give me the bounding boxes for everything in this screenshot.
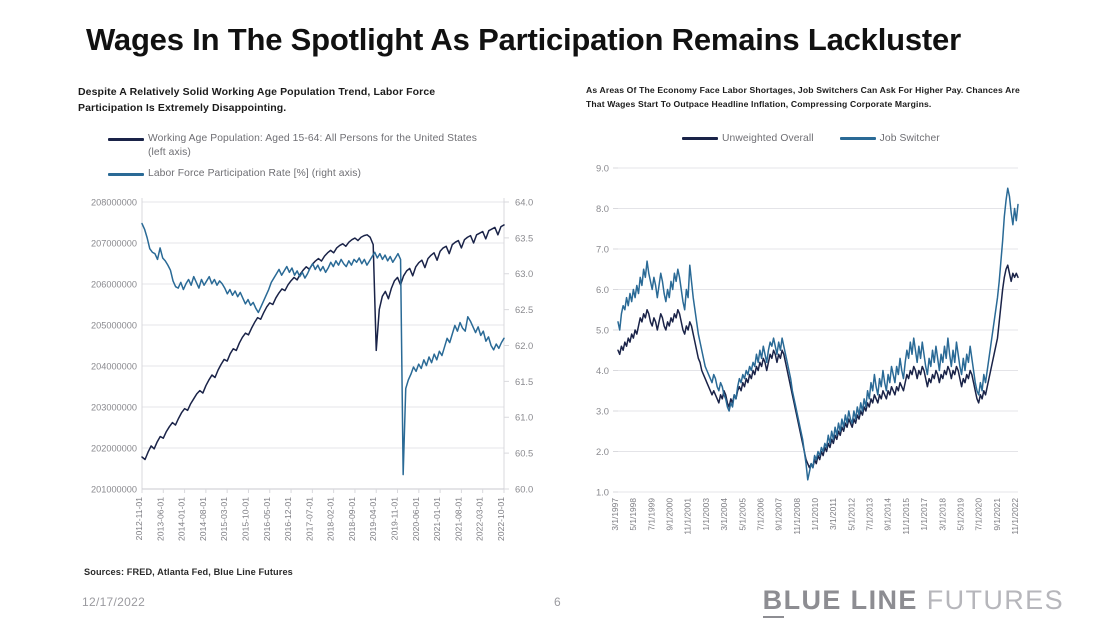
x-axis-tick-label: 2016-05-01 [262, 497, 272, 541]
left-subtitle-line1: Despite A Relatively Solid Working Age P… [78, 84, 558, 100]
page-number: 6 [554, 595, 561, 609]
data-line-job-switcher [618, 188, 1018, 480]
x-axis-tick-label: 7/1/2020 [974, 498, 984, 531]
left-axis-tick-label: 205000000 [91, 320, 137, 330]
x-axis-tick-label: 5/1/1998 [628, 498, 638, 531]
left-axis-tick-label: 202000000 [91, 443, 137, 453]
left-chart-subtitle: Despite A Relatively Solid Working Age P… [78, 84, 558, 117]
logo-letter-b: B [763, 585, 784, 618]
x-axis-tick-label: 2012-11-01 [134, 497, 144, 541]
right-axis-tick-label: 61.0 [515, 412, 533, 423]
y-axis-tick-label: 3.0 [596, 405, 609, 416]
left-chart-panel: Despite A Relatively Solid Working Age P… [78, 84, 558, 584]
legend-item-unweighted-overall[interactable]: Unweighted Overall [682, 132, 814, 146]
right-axis-tick-label: 64.0 [515, 196, 533, 207]
y-axis-tick-label: 7.0 [596, 243, 609, 254]
legend-label-working-age-population: Working Age Population: Aged 15-64: All … [148, 132, 477, 160]
x-axis-tick-label: 1/1/2017 [919, 498, 929, 531]
right-subtitle-line1: As Areas Of The Economy Face Labor Short… [586, 84, 1056, 98]
legend-item-working-age-population[interactable]: Working Age Population: Aged 15-64: All … [108, 132, 477, 160]
x-axis-tick-label: 2020-06-01 [411, 497, 421, 541]
y-axis-tick-label: 5.0 [596, 324, 609, 335]
legend-swatch-navy [108, 138, 144, 141]
left-axis-tick-label: 201000000 [91, 484, 137, 494]
legend-label-job-switcher: Job Switcher [880, 132, 940, 146]
left-chart-svg: 2010000002020000002030000002040000002050… [142, 194, 504, 496]
y-axis-tick-label: 4.0 [596, 365, 609, 376]
x-axis-tick-label: 2017-07-01 [304, 497, 314, 541]
right-chart-plot: 1.02.03.04.05.06.07.08.09.03/1/19975/1/1… [618, 162, 1018, 502]
right-axis-tick-label: 60.0 [515, 483, 533, 494]
x-axis-tick-label: 11/1/2022 [1010, 498, 1020, 535]
x-axis-tick-label: 3/1/2011 [828, 498, 838, 530]
data-line-labor-force-participation [142, 224, 504, 475]
slide: Wages In The Spotlight As Participation … [0, 0, 1120, 630]
x-axis-tick-label: 2018-02-01 [326, 497, 336, 541]
legend-swatch-blue [108, 173, 144, 176]
right-chart-svg: 1.02.03.04.05.06.07.08.09.03/1/19975/1/1… [618, 162, 1018, 502]
legend-swatch-blue [840, 137, 876, 140]
right-axis-tick-label: 61.5 [515, 376, 533, 387]
sources-note: Sources: FRED, Atlanta Fed, Blue Line Fu… [84, 567, 293, 577]
y-axis-tick-label: 9.0 [596, 162, 609, 173]
left-axis-tick-label: 204000000 [91, 361, 137, 371]
x-axis-tick-label: 2015-10-01 [241, 497, 251, 541]
x-axis-tick-label: 2016-12-01 [283, 497, 293, 541]
x-axis-tick-label: 2015-03-01 [219, 497, 229, 541]
left-chart-legend: Working Age Population: Aged 15-64: All … [108, 132, 477, 188]
x-axis-tick-label: 2019-11-01 [390, 497, 400, 541]
legend-item-labor-force-participation[interactable]: Labor Force Participation Rate [%] (righ… [108, 167, 477, 181]
x-axis-tick-label: 7/1/1999 [646, 498, 656, 531]
x-axis-tick-label: 11/1/2001 [683, 498, 693, 535]
x-axis-tick-label: 9/1/2000 [665, 498, 675, 531]
left-subtitle-line2: Participation Is Extremely Disappointing… [78, 100, 558, 116]
x-axis-tick-label: 2014-08-01 [198, 497, 208, 541]
right-axis-tick-label: 63.5 [515, 232, 533, 243]
right-axis-tick-label: 62.0 [515, 340, 533, 351]
left-axis-tick-label: 206000000 [91, 279, 137, 289]
logo-futures: FUTURES [927, 585, 1064, 615]
x-axis-tick-label: 2022-03-01 [475, 497, 485, 541]
x-axis-tick-label: 5/1/2012 [846, 498, 856, 531]
y-axis-tick-label: 2.0 [596, 446, 609, 457]
x-axis-tick-label: 2021-08-01 [453, 497, 463, 541]
blue-line-futures-logo: BLUE LINE FUTURES [763, 585, 1064, 616]
right-chart-legend: Unweighted Overall Job Switcher [682, 132, 940, 146]
right-axis-tick-label: 63.0 [515, 268, 533, 279]
logo-blue-line: BLUE LINE [763, 585, 918, 618]
left-axis-tick-label: 207000000 [91, 238, 137, 248]
left-axis-tick-label: 203000000 [91, 402, 137, 412]
legend-label-labor-force-participation: Labor Force Participation Rate [%] (righ… [148, 167, 361, 181]
x-axis-tick-label: 9/1/2021 [992, 498, 1002, 531]
y-axis-tick-label: 8.0 [596, 203, 609, 214]
right-axis-tick-label: 62.5 [515, 304, 533, 315]
data-line-unweighted-overall [618, 265, 1018, 468]
left-chart-plot: 2010000002020000002030000002040000002050… [142, 194, 504, 496]
right-chart-subtitle: As Areas Of The Economy Face Labor Short… [586, 84, 1056, 112]
right-subtitle-line2: That Wages Start To Outpace Headline Inf… [586, 98, 1056, 112]
legend-swatch-navy [682, 137, 718, 140]
x-axis-tick-label: 2022-10-01 [496, 497, 506, 541]
left-axis-tick-label: 208000000 [91, 197, 137, 207]
date-stamp: 12/17/2022 [82, 595, 145, 609]
x-axis-tick-label: 9/1/2007 [774, 498, 784, 531]
x-axis-tick-label: 3/1/2018 [937, 498, 947, 531]
right-chart-panel: As Areas Of The Economy Face Labor Short… [586, 84, 1056, 584]
x-axis-tick-label: 2019-04-01 [368, 497, 378, 541]
x-axis-tick-label: 5/1/2005 [737, 498, 747, 531]
x-axis-tick-label: 5/1/2019 [956, 498, 966, 531]
x-axis-tick-label: 3/1/1997 [610, 498, 620, 531]
x-axis-tick-label: 1/1/2003 [701, 498, 711, 531]
x-axis-tick-label: 2021-01-01 [432, 497, 442, 541]
x-axis-tick-label: 2018-09-01 [347, 497, 357, 541]
x-axis-tick-label: 2013-06-01 [155, 497, 165, 541]
x-axis-tick-label: 9/1/2014 [883, 498, 893, 531]
page-title: Wages In The Spotlight As Participation … [86, 22, 1086, 58]
y-axis-tick-label: 6.0 [596, 284, 609, 295]
x-axis-tick-label: 2014-01-01 [177, 497, 187, 541]
x-axis-tick-label: 11/1/2008 [792, 498, 802, 535]
x-axis-tick-label: 3/1/2004 [719, 498, 729, 531]
legend-item-job-switcher[interactable]: Job Switcher [840, 132, 940, 146]
legend-label-unweighted-overall: Unweighted Overall [722, 132, 814, 146]
x-axis-tick-label: 1/1/2010 [810, 498, 820, 531]
x-axis-tick-label: 7/1/2006 [756, 498, 766, 531]
logo-blue-line-rest: LUE LINE [784, 585, 918, 615]
x-axis-tick-label: 7/1/2013 [865, 498, 875, 531]
right-axis-tick-label: 60.5 [515, 448, 533, 459]
y-axis-tick-label: 1.0 [596, 486, 609, 497]
x-axis-tick-label: 11/1/2015 [901, 498, 911, 535]
